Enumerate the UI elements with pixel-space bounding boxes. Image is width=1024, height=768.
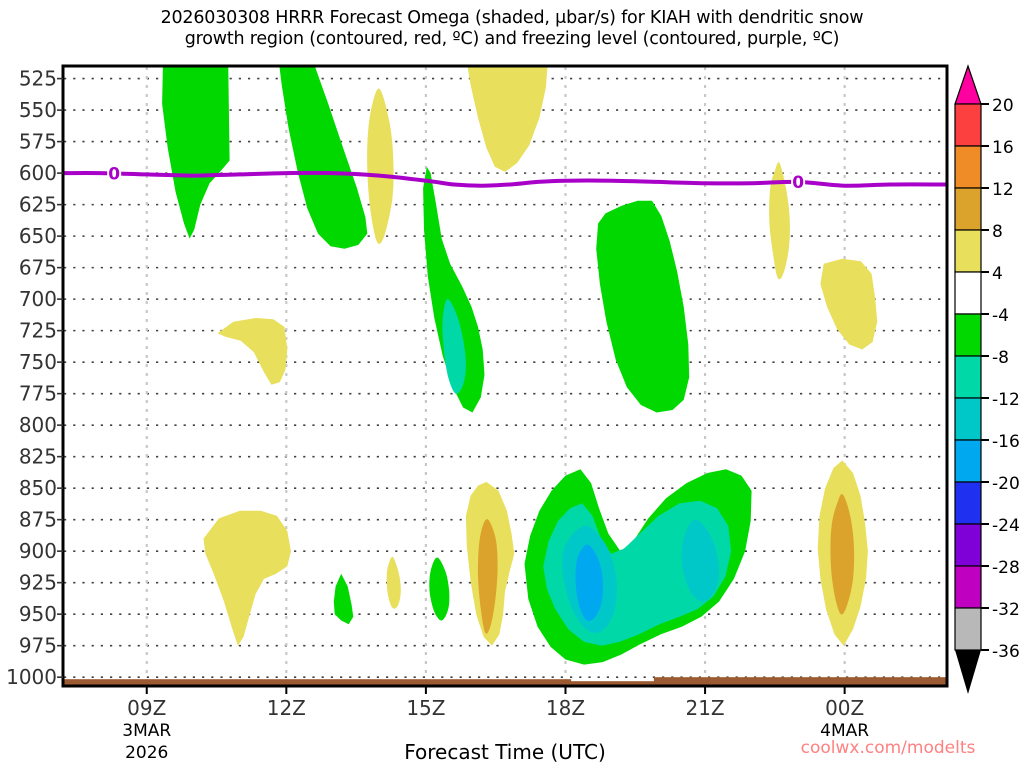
y-axis-tick-label: 700 [19,287,57,311]
colorbar-tick-label: -28 [992,558,1020,578]
chart-canvas: 00 5255505756006256506757007257507758008… [0,0,1024,768]
y-axis-tick-label: 550 [19,98,57,122]
colorbar-band [955,104,981,146]
x-axis-tick-label: 18Z [546,696,585,720]
y-axis-tick-label: 675 [19,256,57,280]
x-axis-tick-label: 15Z [406,696,445,720]
colorbar-tick-label: -20 [992,474,1020,494]
y-axis-tick-label: 750 [19,350,57,374]
colorbar-tick-label: -4 [992,306,1009,326]
y-axis-tick-label: 800 [19,413,57,437]
x-axis-tick-label: 21Z [685,696,724,720]
x-axis-tick-label: 09Z [127,696,166,720]
colorbar-band [955,314,981,356]
credit-watermark: coolwx.com/modelts [801,738,976,758]
colorbar-band [955,272,981,314]
x-axis-tick-sublabel: 2026 [125,743,168,763]
y-axis-tick-label: 600 [19,161,57,185]
colorbar-band [955,398,981,440]
colorbar-band [955,146,981,188]
y-axis-tick-label: 825 [19,445,57,469]
y-axis-tick-label: 900 [19,539,57,563]
colorbar-arrow-top [955,66,981,104]
terrain-top-right [654,677,946,683]
colorbar-tick-label: -12 [992,390,1020,410]
colorbar-arrow-bottom [955,650,981,694]
colorbar-band [955,188,981,230]
y-axis-tick-label: 525 [19,67,57,91]
colorbar-tick-label: -32 [992,600,1020,620]
colorbar-tick-label: 8 [992,222,1003,242]
freezing-level-label: 0 [108,164,120,184]
y-axis-tick-label: 850 [19,476,57,500]
colorbar-band [955,356,981,398]
y-axis-tick-label: 575 [19,130,57,154]
chart-page: 2026030308 HRRR Forecast Omega (shaded, … [0,0,1024,768]
y-axis-tick-label: 625 [19,193,57,217]
colorbar-tick-label: -24 [992,516,1020,536]
colorbar: 20161284-4-8-12-16-20-24-28-32-36 [955,66,1020,694]
colorbar-band [955,566,981,608]
colorbar-tick-label: 12 [992,180,1014,200]
colorbar-band [955,524,981,566]
colorbar-band [955,230,981,272]
x-axis-label: Forecast Time (UTC) [404,740,606,764]
y-axis-tick-labels: 5255505756006256506757007257507758008258… [6,67,63,690]
y-axis-tick-label: 950 [19,602,57,626]
x-axis-tick-label: 12Z [267,696,306,720]
y-axis-tick-label: 1000 [6,665,57,689]
colorbar-band [955,440,981,482]
colorbar-band [955,608,981,650]
colorbar-band [955,482,981,524]
colorbar-tick-label: -36 [992,642,1020,662]
y-axis-tick-label: 975 [19,634,57,658]
y-axis-tick-label: 725 [19,319,57,343]
colorbar-tick-label: -16 [992,432,1020,452]
y-axis-tick-label: 925 [19,571,57,595]
y-axis-tick-label: 775 [19,382,57,406]
y-axis-tick-label: 875 [19,508,57,532]
y-axis-tick-label: 650 [19,224,57,248]
freezing-level-label: 0 [792,173,804,193]
colorbar-tick-label: 20 [992,96,1014,116]
colorbar-tick-label: -8 [992,348,1009,368]
x-axis-tick-label: 00Z [825,696,864,720]
terrain-top-left [64,679,571,683]
colorbar-tick-label: 16 [992,138,1014,158]
x-axis-tick-sublabel: 3MAR [122,721,171,741]
colorbar-tick-label: 4 [992,264,1003,284]
